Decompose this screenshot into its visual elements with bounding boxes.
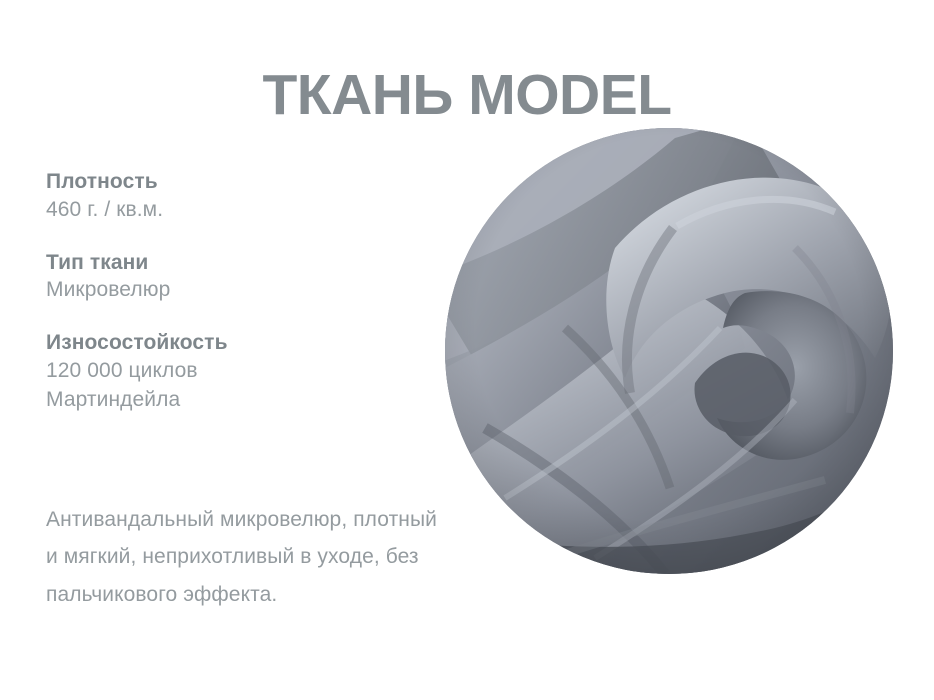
spec-label-fabric-type: Тип ткани bbox=[46, 249, 426, 277]
spec-value-fabric-type: Микровелюр bbox=[46, 276, 426, 305]
spec-item-fabric-type: Тип ткани Микровелюр bbox=[46, 249, 426, 306]
spec-value-abrasion-resistance: 120 000 циклов Мартиндейла bbox=[46, 357, 426, 415]
spec-item-density: Плотность 460 г. / кв.м. bbox=[46, 168, 426, 225]
spec-label-density: Плотность bbox=[46, 168, 426, 196]
spec-item-abrasion-resistance: Износостойкость 120 000 циклов Мартиндей… bbox=[46, 329, 426, 415]
fabric-swirl-illustration bbox=[445, 128, 893, 574]
spec-list: Плотность 460 г. / кв.м. Тип ткани Микро… bbox=[46, 168, 426, 415]
fabric-spec-slide: ТКАНЬ MODEL Плотность 460 г. / кв.м. Тип… bbox=[0, 0, 934, 700]
fabric-photo bbox=[445, 128, 893, 574]
page-title: ТКАНЬ MODEL bbox=[0, 64, 934, 128]
spec-value-density: 460 г. / кв.м. bbox=[46, 196, 426, 225]
description-text: Антивандальный микровелюр, плотный и мяг… bbox=[46, 501, 446, 613]
spec-label-abrasion-resistance: Износостойкость bbox=[46, 329, 426, 357]
